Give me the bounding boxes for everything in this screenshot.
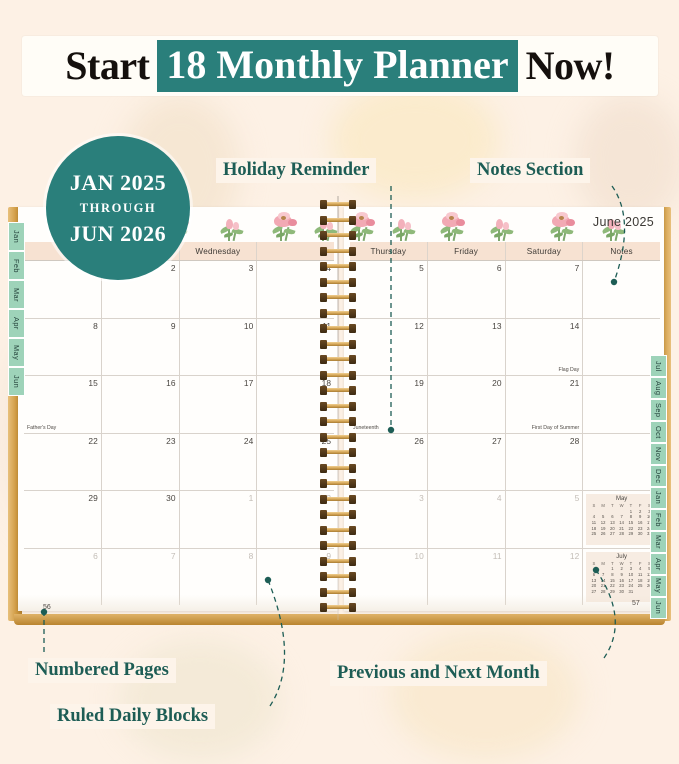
month-tab-jan[interactable]: Jan [650, 487, 667, 509]
calendar-day-cell[interactable]: 10 [180, 319, 258, 376]
notes-column-cell[interactable] [583, 434, 660, 491]
month-tab-mar[interactable]: Mar [650, 531, 667, 553]
spiral-binding [320, 196, 356, 620]
floral-element [444, 232, 453, 237]
floral-element [449, 216, 454, 220]
weekday-header-wednesday: Wednesday [180, 242, 258, 260]
month-tab-oct[interactable]: Oct [650, 421, 667, 443]
calendar-week-row: 19Juneteenth2021First Day of Summer [350, 376, 660, 434]
calendar-day-cell[interactable]: 29 [24, 491, 102, 548]
calendar-week-row: 234 [24, 261, 334, 319]
day-number: 14 [570, 321, 579, 331]
day-number: 30 [166, 493, 175, 503]
badge-end-date: JUN 2026 [70, 220, 166, 248]
month-tab-jun[interactable]: Jun [8, 367, 25, 396]
holiday-event-label: Flag Day [558, 367, 579, 373]
day-number: 3 [249, 263, 254, 273]
month-tab-feb[interactable]: Feb [650, 509, 667, 531]
floral-element [233, 222, 239, 230]
floral-element [398, 219, 405, 229]
floral-element [224, 232, 233, 237]
floral-footer-decoration [18, 595, 338, 611]
spiral-coil [320, 557, 356, 566]
date-range-badge: JAN 2025 THROUGH JUN 2026 [46, 136, 190, 280]
spiral-coil [320, 371, 356, 380]
day-number: 15 [88, 378, 97, 388]
calendar-day-cell[interactable]: 5 [350, 261, 428, 318]
day-number: 20 [492, 378, 501, 388]
day-number: 2 [171, 263, 176, 273]
spiral-coil [320, 278, 356, 287]
spiral-coil [320, 603, 356, 612]
day-number: 9 [171, 321, 176, 331]
mini-day: 29 [608, 589, 617, 595]
day-number: 17 [244, 378, 253, 388]
spiral-coil [320, 216, 356, 225]
day-number: 12 [414, 321, 423, 331]
calendar-day-cell[interactable]: 16 [102, 376, 180, 433]
calendar-day-cell[interactable]: 26 [350, 434, 428, 491]
spiral-coil [320, 541, 356, 550]
planner-left-page: TuesdayWednesday23489101115Father's Day1… [18, 207, 338, 611]
day-number: 4 [497, 493, 502, 503]
spiral-coil [320, 510, 356, 519]
day-number: 24 [244, 436, 253, 446]
day-number: 6 [93, 551, 98, 561]
mini-day: 31 [626, 589, 635, 595]
notes-column-cell[interactable] [583, 319, 660, 376]
spiral-coil [320, 526, 356, 535]
spiral-coil [320, 355, 356, 364]
spiral-coil [320, 340, 356, 349]
floral-element [559, 216, 564, 220]
annotation-previous-next-month: Previous and Next Month [330, 661, 547, 686]
spiral-coil [320, 309, 356, 318]
floral-element [288, 219, 297, 226]
calendar-day-cell[interactable]: 24 [180, 434, 258, 491]
floral-element [606, 232, 615, 237]
holiday-event-label: Father's Day [27, 425, 56, 431]
spiral-coil [320, 200, 356, 209]
floral-element [276, 232, 285, 237]
spiral-coil [320, 247, 356, 256]
mini-calendar[interactable]: MaySMTWTFS....12345678910111213141516171… [586, 494, 657, 545]
calendar-day-cell[interactable]: 21First Day of Summer [506, 376, 584, 433]
calendar-day-cell[interactable]: 28 [506, 434, 584, 491]
calendar-day-cell[interactable]: 4 [428, 491, 506, 548]
mini-day: 26 [599, 531, 608, 537]
month-tab-mar[interactable]: Mar [8, 280, 25, 309]
floral-element [281, 216, 286, 220]
spiral-coil [320, 262, 356, 271]
calendar-day-cell[interactable]: 3 [180, 261, 258, 318]
day-number: 8 [93, 321, 98, 331]
page-number-left: 56 [43, 604, 51, 611]
day-number: 7 [575, 263, 580, 273]
floral-element [496, 219, 503, 229]
mini-calendar-title: July [589, 554, 654, 560]
mini-day: 25 [589, 531, 598, 537]
notes-column-cell[interactable]: MaySMTWTFS....12345678910111213141516171… [583, 491, 660, 548]
month-tab-nov[interactable]: Nov [650, 443, 667, 465]
day-number: 10 [244, 321, 253, 331]
mini-day: 28 [617, 531, 626, 537]
day-number: 26 [414, 436, 423, 446]
month-tab-feb[interactable]: Feb [8, 251, 25, 280]
spiral-coil [320, 448, 356, 457]
banner-text-post: Now! [520, 46, 621, 86]
floral-element [405, 222, 411, 230]
day-number: 22 [88, 436, 97, 446]
day-number: 1 [249, 493, 254, 503]
spiral-coil [320, 386, 356, 395]
calendar-grid-left[interactable]: TuesdayWednesday23489101115Father's Day1… [24, 242, 334, 605]
month-tabs-right[interactable]: JulAugSepOctNovDecJanFebMarAprMayJun [650, 355, 667, 619]
spiral-coil [320, 324, 356, 333]
calendar-day-cell[interactable]: 6 [428, 261, 506, 318]
badge-through-label: THROUGH [80, 201, 156, 216]
calendar-day-cell[interactable]: 9 [102, 319, 180, 376]
day-number: 16 [166, 378, 175, 388]
calendar-grid-right[interactable]: ThursdayFridaySaturdayNotes567121314Flag… [350, 242, 660, 605]
mini-day: 27 [608, 531, 617, 537]
calendar-week-row: 15Father's Day161718 [24, 376, 334, 434]
background-floral-watermark [390, 630, 580, 760]
calendar-day-cell[interactable]: 19Juneteenth [350, 376, 428, 433]
mini-day: . [636, 589, 645, 595]
spiral-coil [320, 588, 356, 597]
calendar-week-row: 121314Flag Day [350, 319, 660, 377]
annotation-ruled-daily-blocks: Ruled Daily Blocks [50, 704, 215, 729]
month-tab-may[interactable]: May [8, 338, 25, 367]
month-tab-apr[interactable]: Apr [650, 553, 667, 575]
calendar-day-cell[interactable]: 12 [350, 319, 428, 376]
spiral-coil [320, 293, 356, 302]
holiday-event-label: Juneteenth [353, 425, 379, 431]
floral-element [456, 219, 465, 226]
day-number: 23 [166, 436, 175, 446]
weekday-header-friday: Friday [428, 242, 506, 260]
month-tab-apr[interactable]: Apr [8, 309, 25, 338]
day-number: 8 [249, 551, 254, 561]
floral-element [359, 216, 364, 220]
weekday-header-notes: Notes [583, 242, 660, 260]
calendar-week-row: 262728 [350, 434, 660, 492]
calendar-week-row: 345MaySMTWTFS....12345678910111213141516… [350, 491, 660, 549]
annotation-notes-section: Notes Section [470, 158, 590, 183]
day-number: 28 [570, 436, 579, 446]
day-number: 10 [414, 551, 423, 561]
floral-footer-decoration [344, 595, 664, 611]
day-number: 5 [575, 493, 580, 503]
calendar-day-cell[interactable]: 14Flag Day [506, 319, 584, 376]
annotation-numbered-pages: Numbered Pages [28, 658, 176, 683]
banner-text-highlight: 18 Monthly Planner [157, 40, 517, 92]
calendar-day-cell[interactable]: 8 [24, 319, 102, 376]
day-number: 13 [492, 321, 501, 331]
mini-calendar-title: May [589, 496, 654, 502]
calendar-week-row: 22232425 [24, 434, 334, 492]
mini-day: 28 [599, 589, 608, 595]
day-number: 6 [497, 263, 502, 273]
holiday-event-label: First Day of Summer [532, 425, 580, 431]
floral-element [554, 232, 563, 237]
day-number: 7 [171, 551, 176, 561]
badge-start-date: JAN 2025 [70, 169, 166, 197]
calendar-day-cell[interactable]: 7 [506, 261, 584, 318]
spiral-coil [320, 433, 356, 442]
day-number: 12 [570, 551, 579, 561]
annotation-holiday-reminder: Holiday Reminder [216, 158, 376, 183]
mini-day: 29 [626, 531, 635, 537]
calendar-day-cell[interactable]: 23 [102, 434, 180, 491]
calendar-day-cell[interactable]: 5 [506, 491, 584, 548]
floral-element [494, 232, 503, 237]
month-tab-jul[interactable]: Jul [650, 355, 667, 377]
spiral-coil [320, 417, 356, 426]
weekday-header-thursday: Thursday [350, 242, 428, 260]
floral-element [366, 219, 375, 226]
header-banner: Start 18 Monthly Planner Now! [22, 36, 658, 96]
calendar-week-row: 891011 [24, 319, 334, 377]
floral-element [226, 219, 233, 229]
weekday-header-saturday: Saturday [506, 242, 584, 260]
day-number: 3 [419, 493, 424, 503]
calendar-day-cell[interactable]: 30 [102, 491, 180, 548]
page-number-right: 57 [632, 600, 640, 607]
calendar-day-cell[interactable]: 20 [428, 376, 506, 433]
month-tab-jan[interactable]: Jan [8, 222, 25, 251]
calendar-week-row: 567 [350, 261, 660, 319]
calendar-day-cell[interactable]: 27 [428, 434, 506, 491]
month-tabs-left[interactable]: JanFebMarAprMayJun [8, 222, 25, 396]
calendar-week-row: 293012 [24, 491, 334, 549]
day-number: 5 [419, 263, 424, 273]
floral-element [503, 222, 509, 230]
spiral-coil [320, 231, 356, 240]
mini-day: 30 [617, 589, 626, 595]
spiral-coil [320, 479, 356, 488]
notes-column-cell[interactable] [583, 376, 660, 433]
month-tab-jun[interactable]: Jun [650, 597, 667, 619]
floral-element [396, 232, 405, 237]
mini-day: 27 [589, 589, 598, 595]
day-number: 19 [414, 378, 423, 388]
day-number: 29 [88, 493, 97, 503]
month-tab-may[interactable]: May [650, 575, 667, 597]
banner-text-pre: Start [59, 46, 155, 86]
calendar-day-cell[interactable]: 1 [180, 491, 258, 548]
day-number: 11 [493, 551, 502, 561]
weekday-header-row: ThursdayFridaySaturdayNotes [350, 242, 660, 261]
spiral-coil [320, 402, 356, 411]
month-tab-sep[interactable]: Sep [650, 399, 667, 421]
spiral-coil [320, 464, 356, 473]
calendar-day-cell[interactable]: 3 [350, 491, 428, 548]
spiral-coil [320, 572, 356, 581]
spiral-coil [320, 495, 356, 504]
mini-day: 30 [636, 531, 645, 537]
month-title: June 2025 [593, 215, 654, 229]
notes-column-cell[interactable] [583, 261, 660, 318]
day-number: 27 [492, 436, 501, 446]
floral-element [566, 219, 575, 226]
calendar-day-cell[interactable]: 15Father's Day [24, 376, 102, 433]
day-number: 21 [570, 378, 579, 388]
month-tab-aug[interactable]: Aug [650, 377, 667, 399]
month-tab-dec[interactable]: Dec [650, 465, 667, 487]
planner-right-page: June 2025 ThursdayFridaySaturdayNotes567… [344, 207, 664, 611]
calendar-day-cell[interactable]: 17 [180, 376, 258, 433]
calendar-day-cell[interactable]: 22 [24, 434, 102, 491]
calendar-day-cell[interactable]: 13 [428, 319, 506, 376]
